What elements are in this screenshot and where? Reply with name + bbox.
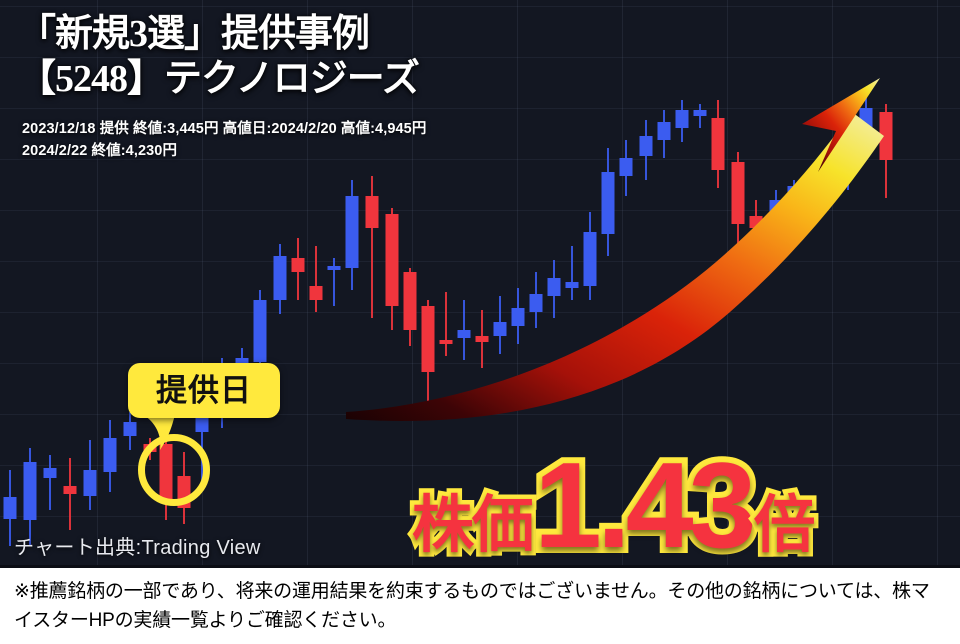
candle-body — [440, 340, 453, 344]
candle-body — [64, 486, 77, 494]
stock-promo-card: 提供日 「新規3選」提供事例 【5248】テクノロジーズ 2023/12/18 … — [0, 0, 960, 644]
title-line-1: 「新規3選」提供事例 — [18, 12, 419, 57]
candle-body — [274, 256, 287, 300]
candle-wick — [333, 258, 335, 306]
offer-date-callout: 提供日 — [128, 363, 280, 418]
candle-wick — [49, 455, 51, 510]
candle-body — [366, 196, 379, 228]
candle-wick — [571, 246, 573, 300]
candle-body — [566, 282, 579, 288]
candle-body — [530, 294, 543, 312]
disclaimer-text: ※推薦銘柄の一部であり、将来の運用結果を約束するものではございません。その他の銘… — [14, 578, 946, 636]
candle-body — [842, 132, 855, 172]
chart-attribution: チャート出典:Trading View — [14, 531, 261, 560]
multiplier-suffix: 倍 — [753, 499, 813, 554]
candle-body — [328, 266, 341, 270]
candle-body — [880, 112, 893, 160]
disclaimer-band: ※推薦銘柄の一部であり、将来の運用結果を約束するものではございません。その他の銘… — [0, 568, 960, 644]
candle-body — [676, 110, 689, 128]
candle-body — [84, 470, 97, 496]
candle-body — [254, 300, 267, 362]
candle-body — [658, 122, 671, 140]
candle-wick — [445, 292, 447, 356]
candle-body — [310, 286, 323, 300]
offer-date-marker-circle — [138, 434, 210, 506]
candle-body — [104, 438, 117, 472]
title-line-2: 【5248】テクノロジーズ — [18, 57, 419, 102]
summary-line-2: 2024/2/22 終値:4,230円 — [22, 140, 426, 162]
candle-body — [620, 158, 633, 176]
candle-body — [458, 330, 471, 338]
candle-body — [4, 497, 17, 519]
candle-body — [24, 462, 37, 520]
candle-body — [404, 272, 417, 330]
candle-body — [750, 216, 763, 228]
candle-body — [732, 162, 745, 224]
candle-body — [694, 110, 707, 116]
candle-body — [292, 258, 305, 272]
candle-body — [640, 136, 653, 156]
candle-body — [386, 214, 399, 306]
candle-body — [346, 196, 359, 268]
stock-summary-info: 2023/12/18 提供 終値:3,445円 高値日:2024/2/20 高値… — [22, 118, 426, 163]
candle-body — [494, 322, 507, 336]
candle-body — [422, 306, 435, 372]
multiplier-prefix: 株価 — [412, 499, 532, 554]
multiplier-value: 1.43 — [534, 452, 751, 559]
candle-body — [44, 468, 57, 478]
candle-body — [712, 118, 725, 170]
page-title: 「新規3選」提供事例 【5248】テクノロジーズ — [18, 12, 419, 102]
candle-body — [788, 186, 801, 198]
candle-body — [512, 308, 525, 326]
candle-body — [602, 172, 615, 234]
candle-body — [584, 232, 597, 286]
candle-body — [548, 278, 561, 296]
candle-body — [476, 336, 489, 342]
candle-body — [124, 422, 137, 436]
candlestick-chart: 提供日 「新規3選」提供事例 【5248】テクノロジーズ 2023/12/18 … — [0, 0, 960, 568]
summary-line-1: 2023/12/18 提供 終値:3,445円 高値日:2024/2/20 高値… — [22, 118, 426, 140]
candle-body — [824, 170, 837, 180]
candle-body — [860, 108, 873, 136]
candle-body — [770, 200, 783, 226]
candle-body — [806, 178, 819, 192]
offer-date-callout-label: 提供日 — [156, 375, 252, 406]
candle-wick — [315, 246, 317, 312]
price-multiplier-badge: 株価 1.43 倍 — [412, 452, 813, 559]
